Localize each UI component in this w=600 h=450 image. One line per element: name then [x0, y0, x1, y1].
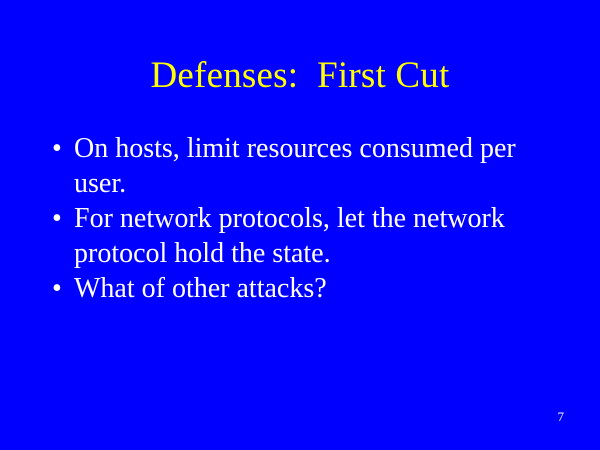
slide-title: Defenses: First Cut [0, 54, 600, 98]
bullet-item-3: • What of other attacks? [44, 271, 520, 306]
bullet-item-label: What of other attacks? [74, 271, 520, 306]
bullet-item-1: • On hosts, limit resources consumed per… [44, 131, 520, 201]
slide-page-number: 7 [558, 409, 565, 425]
bullet-point-icon: • [52, 271, 68, 306]
bullet-point-icon: • [52, 201, 68, 236]
bullet-item-label: For network protocols, let the network p… [74, 201, 520, 271]
bullet-point-icon: • [52, 131, 68, 166]
presentation-slide: Defenses: First Cut • On hosts, limit re… [0, 0, 600, 450]
bullet-item-label: On hosts, limit resources consumed per u… [74, 131, 520, 201]
bullet-item-2: • For network protocols, let the network… [44, 201, 520, 271]
bullet-list: • On hosts, limit resources consumed per… [44, 131, 520, 306]
